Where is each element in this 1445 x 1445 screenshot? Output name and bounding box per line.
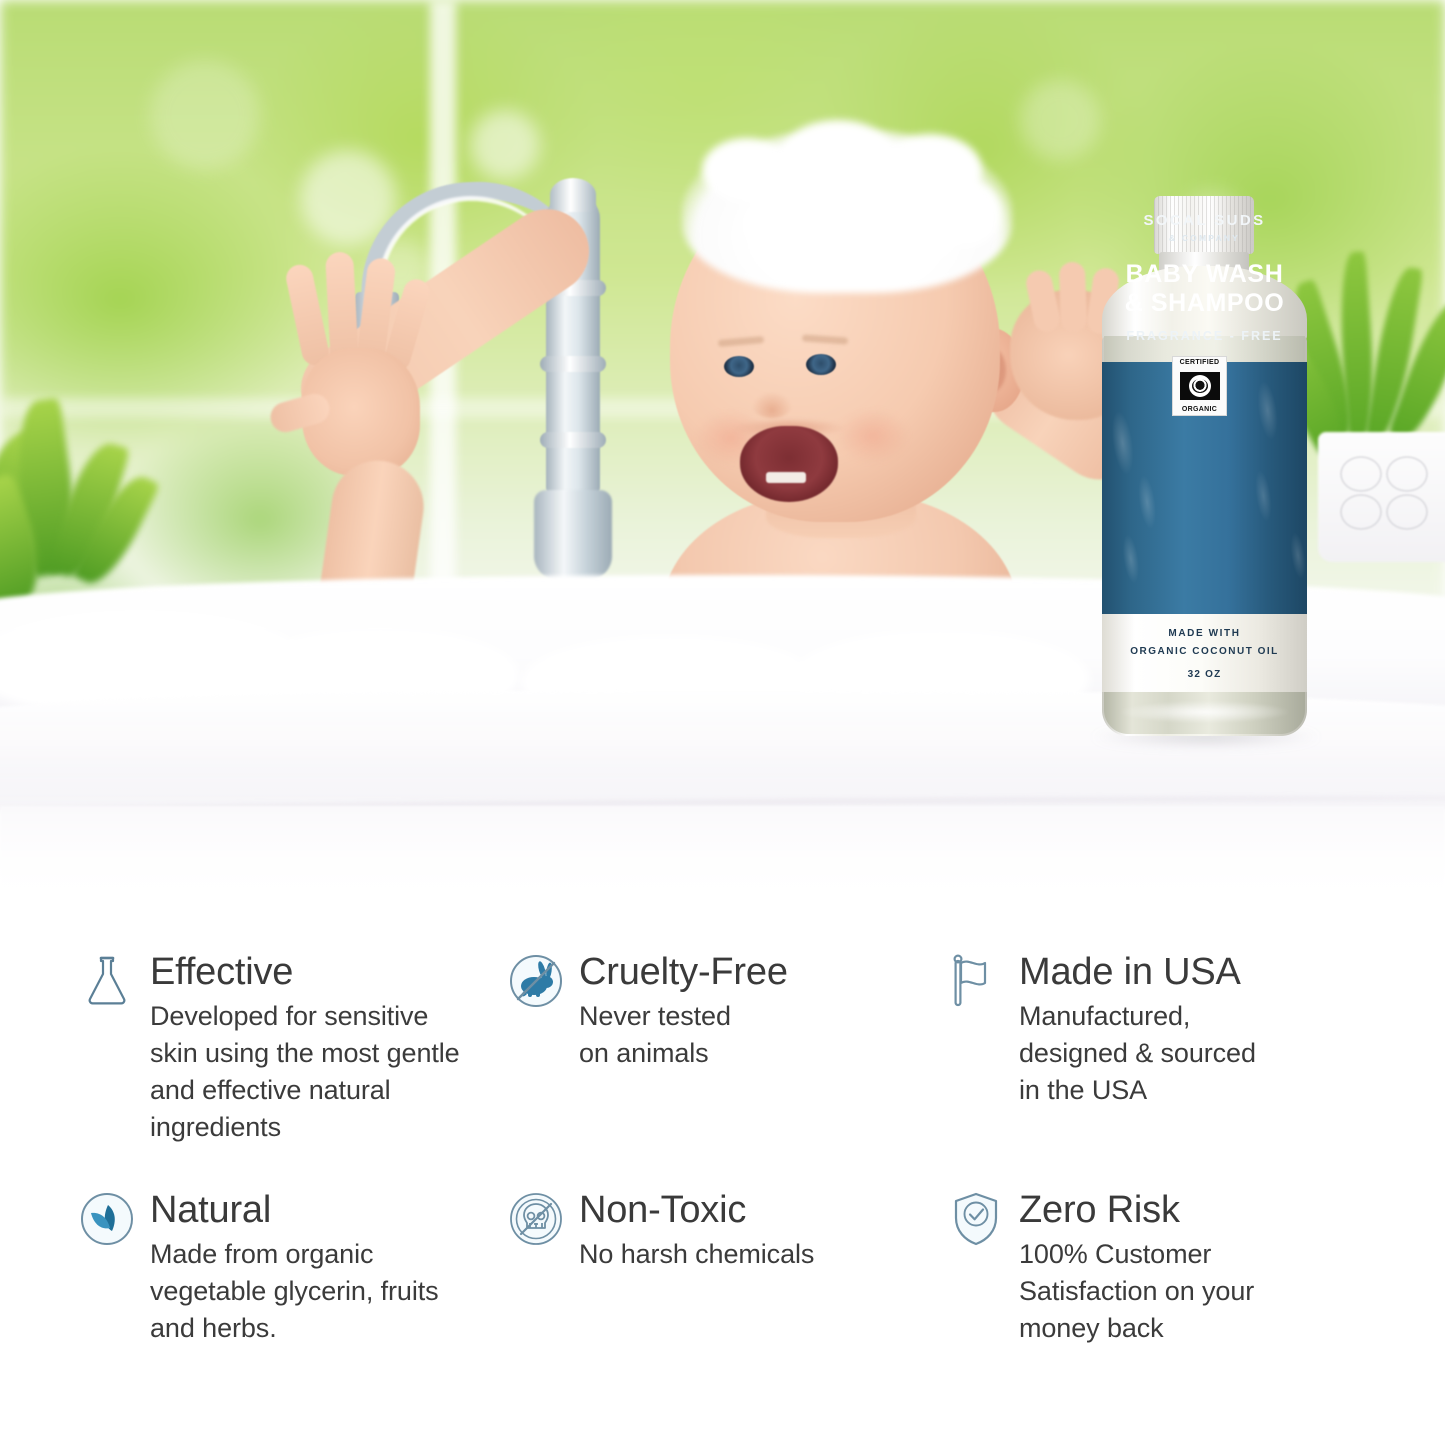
basket-weave <box>1386 456 1428 492</box>
fragrance-label: FRAGRANCE - FREE <box>1097 329 1312 343</box>
feature-heading: Made in USA <box>1019 950 1445 994</box>
feature-grid: Effective Developed for sensitive skin u… <box>0 930 1445 1445</box>
feature-description: Developed for sensitive skin using the m… <box>150 998 495 1146</box>
feature-heading: Cruelty-Free <box>579 950 935 994</box>
feature-text: Zero Risk 100% Customer Satisfaction on … <box>1019 1188 1445 1347</box>
feature-zero-risk: Zero Risk 100% Customer Satisfaction on … <box>935 1188 1445 1347</box>
baby-cheek <box>836 408 910 464</box>
feature-text: Natural Made from organic vegetable glyc… <box>150 1188 495 1347</box>
product-listing-image: SOCAL SUDS & COMPANY BABY WASH & SHAMPOO… <box>0 0 1445 1445</box>
brand-name: SOCAL SUDS <box>1097 212 1312 229</box>
desc-line: on animals <box>579 1035 935 1072</box>
seal-bottom-text: ORGANIC <box>1182 406 1217 413</box>
flag-icon <box>947 952 1005 1010</box>
no-rabbit-icon <box>507 952 565 1010</box>
flask-icon <box>78 952 136 1010</box>
feature-text: Non-Toxic No harsh chemicals <box>579 1188 935 1347</box>
feature-made-in-usa: Made in USA Manufactured, designed & sou… <box>935 950 1445 1146</box>
desc-line: Satisfaction on your <box>1019 1273 1445 1310</box>
certified-organic-seal: CERTIFIED ORGANIC <box>1172 356 1227 416</box>
baby-eye <box>806 354 836 375</box>
basket-weave <box>1340 456 1382 492</box>
desc-line: Made from organic <box>150 1236 495 1273</box>
basket-weave <box>1340 494 1382 530</box>
feature-description: No harsh chemicals <box>579 1236 935 1273</box>
feature-row-2: Natural Made from organic vegetable glyc… <box>0 1188 1445 1347</box>
seal-top-text: CERTIFIED <box>1180 359 1220 366</box>
feature-row-1: Effective Developed for sensitive skin u… <box>0 950 1445 1146</box>
feature-text: Effective Developed for sensitive skin u… <box>150 950 495 1146</box>
feature-cruelty-free: Cruelty-Free Never tested on animals <box>495 950 935 1146</box>
feature-description: Made from organic vegetable glycerin, fr… <box>150 1236 495 1347</box>
bokeh-light <box>150 60 260 170</box>
seal-circle-icon <box>1189 375 1211 397</box>
desc-line: and effective natural <box>150 1072 495 1109</box>
feature-natural: Natural Made from organic vegetable glyc… <box>0 1188 495 1347</box>
shield-check-icon <box>947 1190 1005 1248</box>
seal-emblem <box>1180 372 1220 400</box>
woven-basket <box>1318 432 1445 562</box>
feature-description: Manufactured, designed & sourced in the … <box>1019 998 1445 1109</box>
baby-open-mouth <box>740 426 838 502</box>
basket-weave <box>1386 494 1428 530</box>
size-text: 32 OZ <box>1097 669 1312 680</box>
baby-nose <box>752 392 792 418</box>
desc-line: and herbs. <box>150 1310 495 1347</box>
desc-line: Developed for sensitive <box>150 998 495 1035</box>
desc-line: in the USA <box>1019 1072 1445 1109</box>
feature-heading: Zero Risk <box>1019 1188 1445 1232</box>
feature-text: Made in USA Manufactured, designed & sou… <box>1019 950 1445 1146</box>
feature-non-toxic: Non-Toxic No harsh chemicals <box>495 1188 935 1347</box>
hand-finger <box>284 262 332 367</box>
desc-line: skin using the most gentle <box>150 1035 495 1072</box>
made-with-text: MADE WITH <box>1097 628 1312 639</box>
baby-left-hand <box>268 252 458 482</box>
product-title-line1: BABY WASH <box>1126 260 1284 288</box>
desc-line: Never tested <box>579 998 935 1035</box>
desc-line: Manufactured, <box>1019 998 1445 1035</box>
baby-finger <box>1059 262 1087 333</box>
feature-heading: Natural <box>150 1188 495 1232</box>
leaves-icon <box>78 1190 136 1248</box>
feature-text: Cruelty-Free Never tested on animals <box>579 950 935 1146</box>
brand-suffix: & COMPANY <box>1097 233 1312 243</box>
feature-description: Never tested on animals <box>579 998 935 1072</box>
feature-heading: Effective <box>150 950 495 994</box>
feature-heading: Non-Toxic <box>579 1188 935 1232</box>
bottle-base-highlight <box>1119 701 1289 723</box>
desc-line: No harsh chemicals <box>579 1236 935 1273</box>
feature-description: 100% Customer Satisfaction on your money… <box>1019 1236 1445 1347</box>
desc-line: ingredients <box>150 1109 495 1146</box>
product-title: BABY WASH & SHAMPOO <box>1097 260 1312 318</box>
desc-line: money back <box>1019 1310 1445 1347</box>
desc-line: vegetable glycerin, fruits <box>150 1273 495 1310</box>
ingredient-text: ORGANIC COCONUT OIL <box>1097 646 1312 657</box>
foam-on-head <box>682 128 1012 293</box>
product-bottle: SOCAL SUDS & COMPANY BABY WASH & SHAMPOO… <box>1097 196 1312 741</box>
desc-line: 100% Customer <box>1019 1236 1445 1273</box>
feature-effective: Effective Developed for sensitive skin u… <box>0 950 495 1146</box>
baby-tooth <box>766 472 806 483</box>
desc-line: designed & sourced <box>1019 1035 1445 1072</box>
baby-eye <box>724 356 754 377</box>
no-skull-icon <box>507 1190 565 1248</box>
product-title-line2: & SHAMPOO <box>1125 289 1285 317</box>
